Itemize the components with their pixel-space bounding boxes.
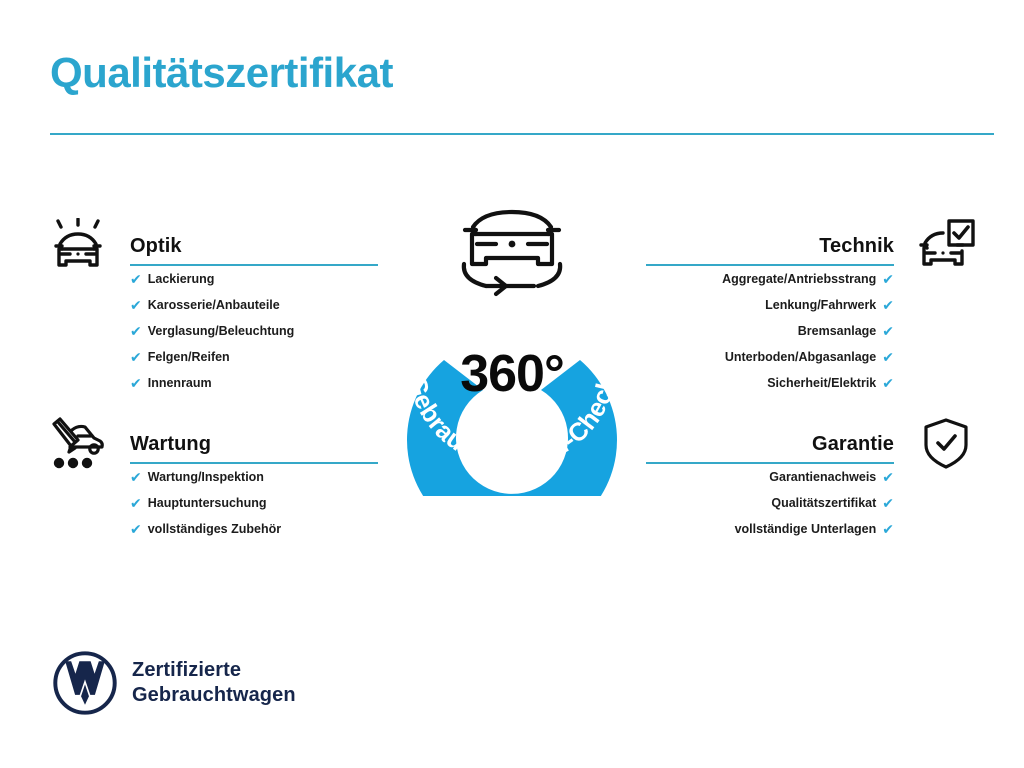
- list-item-label: Wartung/Inspektion: [148, 471, 264, 484]
- list-item-label: vollständige Unterlagen: [735, 523, 877, 536]
- check-icon: ✔: [882, 272, 894, 286]
- section-optik: Optik ✔ Lackierung ✔ Karosserie/Anbautei…: [48, 222, 378, 266]
- check-icon: ✔: [130, 350, 142, 364]
- list-item-label: Lenkung/Fahrwerk: [765, 299, 876, 312]
- checklist-technik: Aggregate/Antriebsstrang ✔ Lenkung/Fahrw…: [722, 272, 894, 402]
- list-item: ✔ Verglasung/Beleuchtung: [130, 324, 294, 338]
- check-icon: ✔: [130, 324, 142, 338]
- check-icon: ✔: [882, 522, 894, 536]
- title-divider: [50, 133, 994, 135]
- checklist-optik: ✔ Lackierung ✔ Karosserie/Anbauteile ✔ V…: [130, 272, 294, 402]
- section-title: Wartung: [130, 433, 211, 456]
- check-icon: ✔: [882, 298, 894, 312]
- list-item: Bremsanlage ✔: [722, 324, 894, 338]
- list-item-label: vollständiges Zubehör: [148, 523, 281, 536]
- list-item-label: Bremsanlage: [798, 325, 877, 338]
- section-title: Optik: [130, 235, 182, 258]
- list-item: Lenkung/Fahrwerk ✔: [722, 298, 894, 312]
- section-technik: Technik Aggregate/Antriebsstrang ✔ Lenku…: [646, 222, 976, 266]
- vw-certified-logo: Zertifizierte Gebrauchtwagen: [52, 650, 296, 716]
- check-icon: ✔: [882, 324, 894, 338]
- list-item-label: Felgen/Reifen: [148, 351, 230, 364]
- vw-logo-icon: [52, 650, 118, 716]
- section-header-wartung: Wartung: [48, 420, 378, 464]
- list-item-label: Verglasung/Beleuchtung: [148, 325, 295, 338]
- check-icon: ✔: [130, 272, 142, 286]
- section-garantie: Garantie Garantienachweis ✔ Qualitätszer…: [646, 420, 976, 464]
- check-icon: ✔: [130, 376, 142, 390]
- certificate-page: Qualitätszertifikat Optik ✔: [0, 0, 1024, 768]
- list-item: ✔ vollständiges Zubehör: [130, 522, 281, 536]
- footer-line-1: Zertifizierte: [132, 658, 296, 683]
- list-item: ✔ Karosserie/Anbauteile: [130, 298, 294, 312]
- list-item: ✔ Innenraum: [130, 376, 294, 390]
- list-item-label: Innenraum: [148, 377, 212, 390]
- list-item: Unterboden/Abgasanlage ✔: [722, 350, 894, 364]
- list-item-label: Sicherheit/Elektrik: [767, 377, 876, 390]
- list-item: ✔ Hauptuntersuchung: [130, 496, 281, 510]
- check-icon: ✔: [882, 470, 894, 484]
- check-icon: ✔: [882, 376, 894, 390]
- list-item: vollständige Unterlagen ✔: [735, 522, 894, 536]
- badge-360-gebrauchtwagen-check: Gebrauchtwagen-Check 360°: [378, 196, 646, 496]
- section-divider: [130, 462, 378, 464]
- section-header-garantie: Garantie: [646, 420, 976, 464]
- section-divider: [646, 264, 894, 266]
- checklist-garantie: Garantienachweis ✔ Qualitätszertifikat ✔…: [735, 470, 894, 548]
- section-header-technik: Technik: [646, 222, 976, 266]
- list-item-label: Karosserie/Anbauteile: [148, 299, 280, 312]
- section-divider: [130, 264, 378, 266]
- page-title: Qualitätszertifikat: [50, 50, 393, 96]
- list-item-label: Garantienachweis: [769, 471, 876, 484]
- list-item-label: Qualitätszertifikat: [771, 497, 876, 510]
- list-item: ✔ Felgen/Reifen: [130, 350, 294, 364]
- list-item: ✔ Wartung/Inspektion: [130, 470, 281, 484]
- checklist-wartung: ✔ Wartung/Inspektion ✔ Hauptuntersuchung…: [130, 470, 281, 548]
- list-item: Aggregate/Antriebsstrang ✔: [722, 272, 894, 286]
- section-divider: [646, 462, 894, 464]
- section-wartung: Wartung ✔ Wartung/Inspektion ✔ Hauptunte…: [48, 420, 378, 464]
- section-title: Technik: [819, 235, 894, 258]
- check-icon: ✔: [130, 298, 142, 312]
- list-item-label: Unterboden/Abgasanlage: [725, 351, 876, 364]
- car-rotate-360-icon: [464, 212, 560, 294]
- footer-text: Zertifizierte Gebrauchtwagen: [132, 658, 296, 708]
- section-title: Garantie: [812, 433, 894, 456]
- check-icon: ✔: [130, 522, 142, 536]
- check-icon: ✔: [882, 350, 894, 364]
- section-header-optik: Optik: [48, 222, 378, 266]
- list-item: ✔ Lackierung: [130, 272, 294, 286]
- badge-number: 360°: [378, 348, 646, 400]
- check-icon: ✔: [130, 470, 142, 484]
- check-icon: ✔: [882, 496, 894, 510]
- list-item: Garantienachweis ✔: [735, 470, 894, 484]
- check-icon: ✔: [130, 496, 142, 510]
- footer-line-2: Gebrauchtwagen: [132, 683, 296, 708]
- list-item-label: Aggregate/Antriebsstrang: [722, 273, 876, 286]
- list-item: Sicherheit/Elektrik ✔: [722, 376, 894, 390]
- list-item-label: Lackierung: [148, 273, 215, 286]
- list-item-label: Hauptuntersuchung: [148, 497, 267, 510]
- list-item: Qualitätszertifikat ✔: [735, 496, 894, 510]
